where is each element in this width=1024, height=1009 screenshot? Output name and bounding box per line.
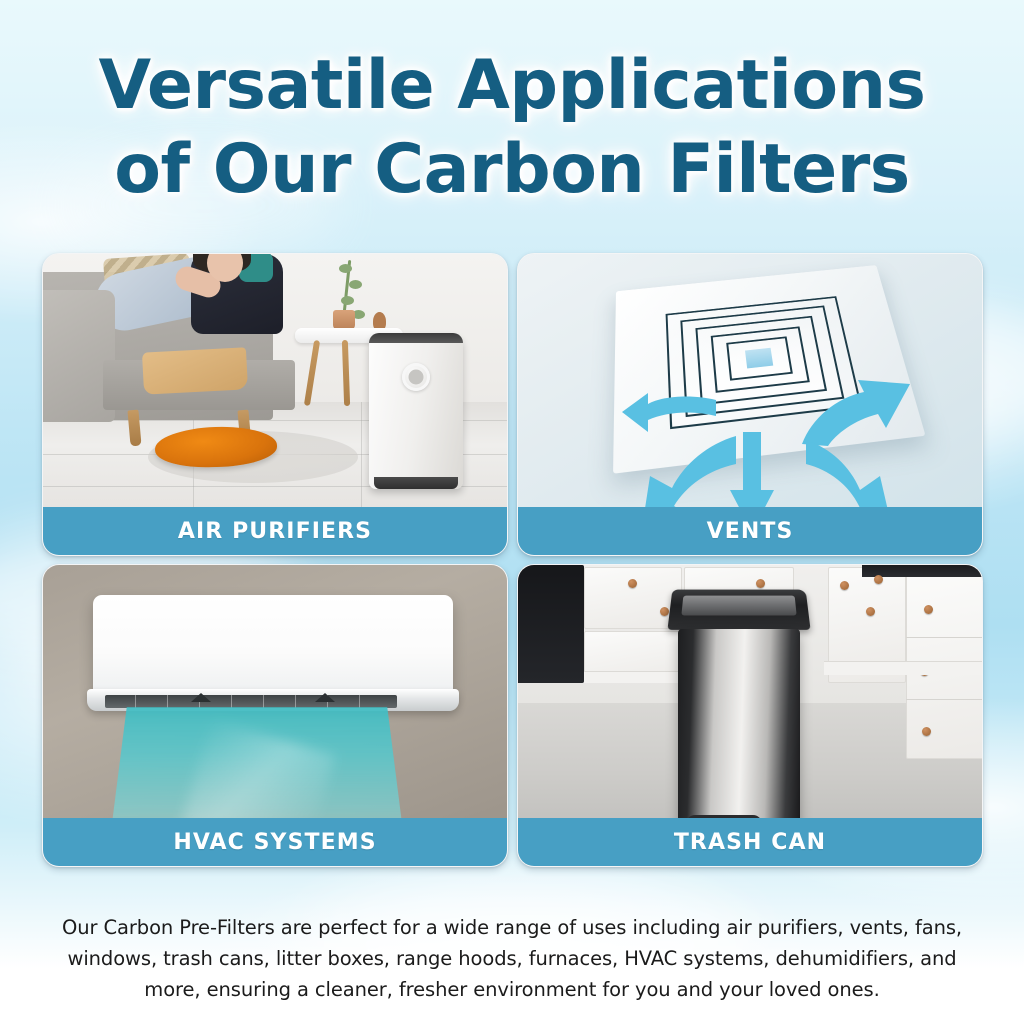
- cabinet-knob: [628, 579, 637, 588]
- cabinet-knob: [756, 579, 765, 588]
- airflow-arrow-lower-right: [806, 438, 924, 509]
- photo-kitchen-trash-can: [518, 565, 982, 820]
- card-caption-label: HVAC SYSTEMS: [173, 830, 376, 855]
- coffee-mug: [333, 310, 355, 330]
- cabinet-knob: [840, 581, 849, 590]
- trash-can-lid: [667, 590, 810, 630]
- cabinet-knob: [924, 605, 933, 614]
- trash-can-lid-inner: [681, 596, 796, 616]
- air-purifier-device: [369, 333, 463, 489]
- card-caption-hvac-systems: HVAC SYSTEMS: [43, 818, 507, 866]
- kitchen-cabinet: [584, 567, 682, 629]
- hvac-louver-vent: [105, 695, 397, 708]
- infographic-page: Versatile Applications of Our Carbon Fil…: [0, 0, 1024, 1009]
- card-caption-trash-can: TRASH CAN: [518, 818, 982, 866]
- drawer-seam: [906, 637, 982, 638]
- footer-line-3: more, ensuring a cleaner, fresher enviro…: [0, 974, 1024, 1005]
- footer-line-2: windows, trash cans, litter boxes, range…: [0, 943, 1024, 974]
- application-card-air-purifiers[interactable]: AIR PURIFIERS: [42, 253, 508, 556]
- application-card-grid: AIR PURIFIERS: [42, 253, 983, 867]
- footer-description: Our Carbon Pre-Filters are perfect for a…: [0, 912, 1024, 1005]
- card-caption-air-purifiers: AIR PURIFIERS: [43, 507, 507, 555]
- sofa-throw-blanket: [142, 347, 248, 394]
- air-purifier-base-intake: [374, 477, 458, 489]
- card-caption-label: TRASH CAN: [674, 830, 826, 855]
- application-card-hvac-systems[interactable]: HVAC SYSTEMS: [42, 564, 508, 867]
- airflow-arrow-lower-left: [612, 430, 736, 509]
- plant-leaf: [349, 280, 362, 289]
- photo-living-room-air-purifier: [43, 254, 507, 509]
- airflow-arrow-down: [730, 432, 774, 509]
- photo-ceiling-vent-airflow: [518, 254, 982, 509]
- card-caption-label: VENTS: [707, 519, 794, 544]
- application-card-trash-can[interactable]: TRASH CAN: [517, 564, 983, 867]
- hvac-indoor-unit: [93, 595, 453, 695]
- cabinet-knob: [660, 607, 669, 616]
- kitchen-dark-appliance: [518, 565, 584, 683]
- footer-line-1: Our Carbon Pre-Filters are perfect for a…: [0, 912, 1024, 943]
- air-purifier-control-dial: [402, 363, 430, 391]
- page-title-line-1: Versatile Applications: [0, 44, 1024, 128]
- plant-leaf: [339, 264, 352, 273]
- drawer-seam: [906, 699, 982, 700]
- vent-center-opening: [745, 348, 773, 369]
- card-caption-vents: VENTS: [518, 507, 982, 555]
- plant-leaf: [341, 296, 354, 305]
- photo-mini-split-hvac: [43, 565, 507, 820]
- airflow-arrow-right: [802, 378, 918, 446]
- trash-can-body: [678, 629, 800, 820]
- page-title-line-2: of Our Carbon Filters: [0, 128, 1024, 212]
- cabinet-knob: [922, 727, 931, 736]
- air-purifier-dial-center: [409, 370, 424, 385]
- page-title: Versatile Applications of Our Carbon Fil…: [0, 44, 1024, 212]
- air-purifier-top-grille: [369, 333, 463, 343]
- card-caption-label: AIR PURIFIERS: [178, 519, 372, 544]
- cabinet-knob: [874, 575, 883, 584]
- cabinet-toe-kick: [824, 661, 982, 675]
- cabinet-knob: [866, 607, 875, 616]
- application-card-vents[interactable]: VENTS: [517, 253, 983, 556]
